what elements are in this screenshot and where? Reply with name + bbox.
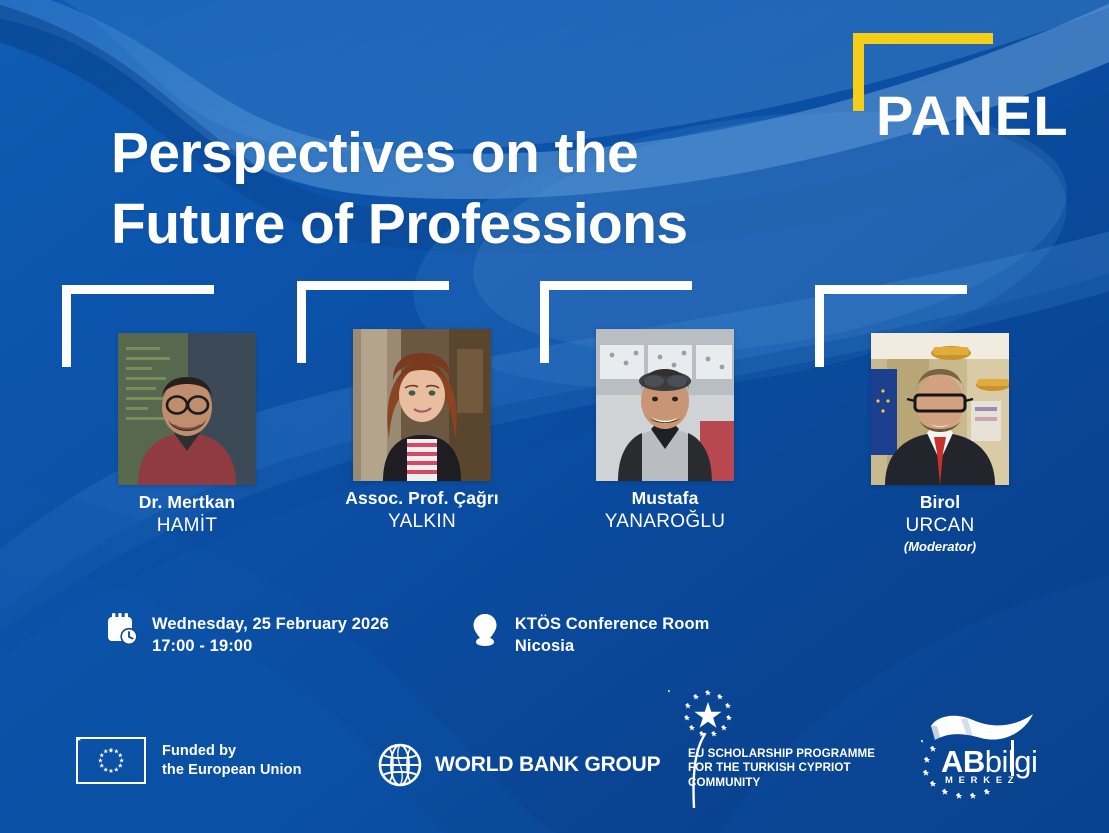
globe-icon [377,742,423,788]
speaker-last-name: YANAROĞLU [540,510,790,534]
eu-funded-line-2: the European Union [162,761,302,780]
event-date: Wednesday, 25 February 2026 [152,614,389,636]
eu-scholarship-text: EU SCHOLARSHIP PROGRAMME FOR THE TURKISH… [688,747,898,790]
speaker-last-name: YALKIN [297,510,547,534]
eu-funded-text: Funded by the European Union [162,742,302,779]
eu-scholarship-programme-logo: EU SCHOLARSHIP PROGRAMME FOR THE TURKISH… [668,690,898,810]
speaker-name-2: Assoc. Prof. Çağrı YALKIN [297,487,547,534]
speaker-last-name: URCAN [815,514,1065,538]
speaker-first-name: Mustafa [540,487,790,510]
speaker-photo-frame-4 [815,285,1065,485]
speaker-photo-frame-2 [297,281,547,481]
eu-funded-logo: Funded by the European Union [76,737,302,784]
event-details: Wednesday, 25 February 2026 17:00 - 19:0… [106,612,709,658]
event-venue-block: KTÖS Conference Room Nicosia [469,612,710,658]
speaker-first-name: Birol [815,491,1065,514]
panel-label: PANEL [876,88,1069,144]
speaker-portrait-2 [353,329,491,481]
speaker-photo-frame-1 [62,285,312,485]
calendar-clock-icon [106,612,138,648]
title-line-2: Future of Professions [111,189,831,260]
title-line-1: Perspectives on the [111,118,831,189]
event-date-block: Wednesday, 25 February 2026 17:00 - 19:0… [106,612,389,658]
event-venue: KTÖS Conference Room [515,614,710,636]
event-poster: PANEL Perspectives on the Future of Prof… [0,0,1109,833]
event-city: Nicosia [515,636,710,658]
event-venue-text: KTÖS Conference Room Nicosia [515,612,710,658]
eu-flag-icon [76,737,146,784]
ab-bilgi-merkez-text: M E R K E Z [945,774,1015,785]
speaker-portrait-3 [596,329,734,481]
speaker-name-1: Dr. Mertkan HAMİT [62,491,312,538]
ab-bilgi-merkez-logo: AB bilgi M E R K E Z [915,706,1065,810]
speaker-card-4: Birol URCAN (Moderator) [815,285,1065,555]
speaker-name-4: Birol URCAN (Moderator) [815,491,1065,555]
location-pin-icon [469,612,501,648]
speaker-list: Dr. Mertkan HAMİT [0,285,1109,575]
event-time: 17:00 - 19:00 [152,636,389,658]
world-bank-group-logo: WORLD BANK GROUP [377,742,660,788]
speaker-card-3: Mustafa YANAROĞLU [540,281,790,534]
speaker-portrait-1 [118,333,256,485]
panel-badge: PANEL [853,33,1053,125]
speaker-first-name: Assoc. Prof. Çağrı [297,487,547,510]
page-title: Perspectives on the Future of Profession… [111,118,831,259]
speaker-first-name: Dr. Mertkan [62,491,312,514]
footer-logos: Funded by the European Union WORLD BANK … [0,690,1109,833]
world-bank-group-text: WORLD BANK GROUP [435,753,660,777]
eu-scholarship-line-1: EU SCHOLARSHIP PROGRAMME [688,747,898,761]
speaker-card-1: Dr. Mertkan HAMİT [62,285,312,538]
eu-scholarship-line-3: COMMUNITY [688,776,898,790]
speaker-portrait-4 [871,333,1009,485]
speaker-role: (Moderator) [815,539,1065,556]
speaker-card-2: Assoc. Prof. Çağrı YALKIN [297,281,547,534]
eu-scholarship-line-2: FOR THE TURKISH CYPRIOT [688,761,898,775]
speaker-last-name: HAMİT [62,514,312,538]
eu-funded-line-1: Funded by [162,742,302,761]
ab-bilgi-divider [1011,740,1014,776]
speaker-name-3: Mustafa YANAROĞLU [540,487,790,534]
event-date-text: Wednesday, 25 February 2026 17:00 - 19:0… [152,612,389,658]
speaker-photo-frame-3 [540,281,790,481]
